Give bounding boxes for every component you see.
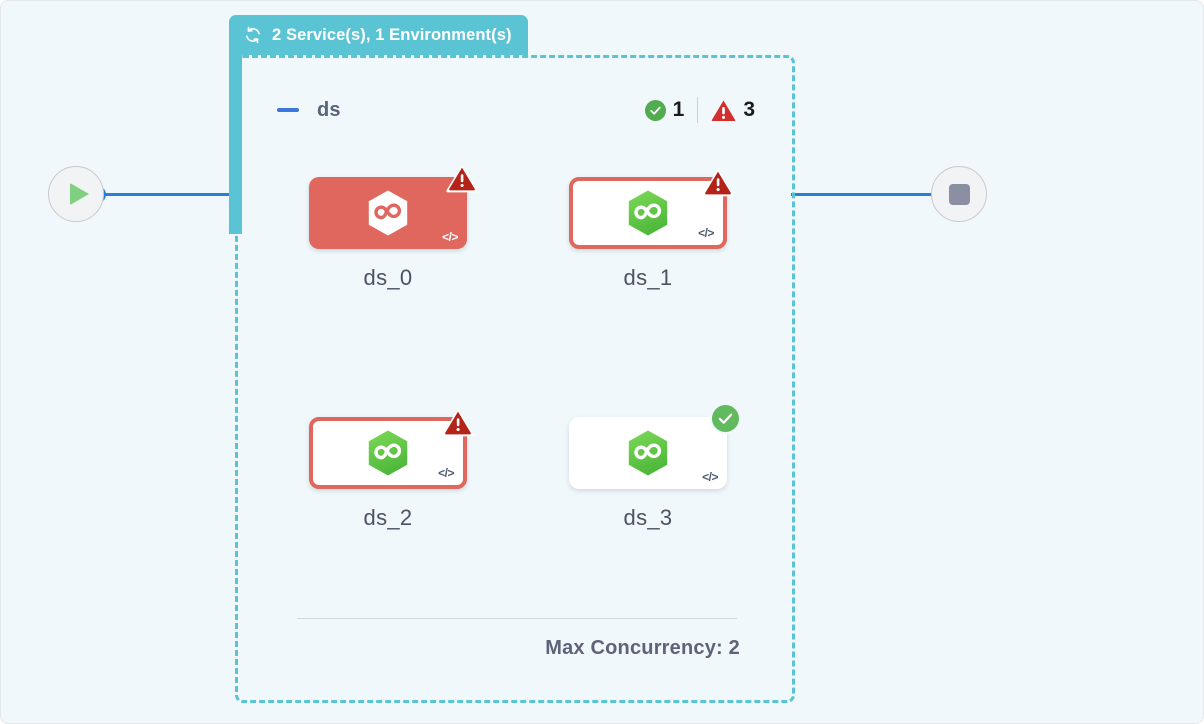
stop-icon (949, 184, 970, 205)
warning-triangle-icon (711, 99, 736, 122)
check-circle-icon (645, 100, 666, 121)
edge-start-to-group (101, 193, 237, 196)
status-error-chip[interactable]: 3 (711, 98, 755, 122)
camel-hexagon-icon (363, 428, 413, 478)
warning-triangle-icon[interactable] (441, 407, 475, 438)
node-ds_3[interactable]: </> ds_3 (569, 417, 727, 531)
node-label: ds_1 (569, 265, 727, 291)
group-rail (229, 51, 242, 234)
end-node[interactable] (931, 166, 987, 222)
start-node[interactable] (48, 166, 104, 222)
service-group-container[interactable] (235, 55, 795, 703)
max-concurrency-label: Max Concurrency: 2 (297, 637, 740, 660)
code-brackets-icon[interactable]: </> (438, 466, 454, 480)
group-tab-header[interactable]: 2 Service(s), 1 Environment(s) (229, 15, 528, 55)
node-label: ds_0 (309, 265, 467, 291)
node-label: ds_3 (569, 505, 727, 531)
node-ds_1[interactable]: </> ds_1 (569, 177, 727, 291)
camel-hexagon-icon (623, 428, 673, 478)
sync-refresh-icon (243, 25, 263, 45)
code-brackets-icon[interactable]: </> (702, 470, 718, 484)
node-card[interactable]: </> (569, 177, 727, 249)
check-circle-icon[interactable] (710, 403, 741, 434)
node-ds_0[interactable]: </> ds_0 (309, 177, 467, 291)
edge-group-to-end (791, 193, 943, 196)
play-icon (70, 183, 89, 205)
warning-triangle-icon[interactable] (445, 163, 479, 194)
status-ok-count: 1 (673, 98, 685, 122)
status-separator (697, 97, 698, 123)
warning-triangle-icon[interactable] (701, 167, 735, 198)
collapse-minus-icon[interactable] (277, 108, 299, 112)
status-error-count: 3 (743, 98, 755, 122)
group-name-label: ds (317, 99, 341, 122)
camel-hexagon-icon (363, 188, 413, 238)
workflow-canvas[interactable]: 2 Service(s), 1 Environment(s) ds 1 (0, 0, 1204, 724)
code-brackets-icon[interactable]: </> (698, 226, 714, 240)
node-card[interactable]: </> (569, 417, 727, 489)
group-tab-label: 2 Service(s), 1 Environment(s) (272, 26, 512, 45)
status-ok-chip[interactable]: 1 (645, 98, 685, 122)
group-header-row: ds 1 3 (277, 93, 755, 127)
group-footer-divider (297, 618, 737, 619)
group-status-counts: 1 3 (645, 97, 755, 123)
code-brackets-icon[interactable]: </> (442, 230, 458, 244)
camel-hexagon-icon (623, 188, 673, 238)
node-ds_2[interactable]: </> ds_2 (309, 417, 467, 531)
node-card[interactable]: </> (309, 177, 467, 249)
node-card[interactable]: </> (309, 417, 467, 489)
node-label: ds_2 (309, 505, 467, 531)
